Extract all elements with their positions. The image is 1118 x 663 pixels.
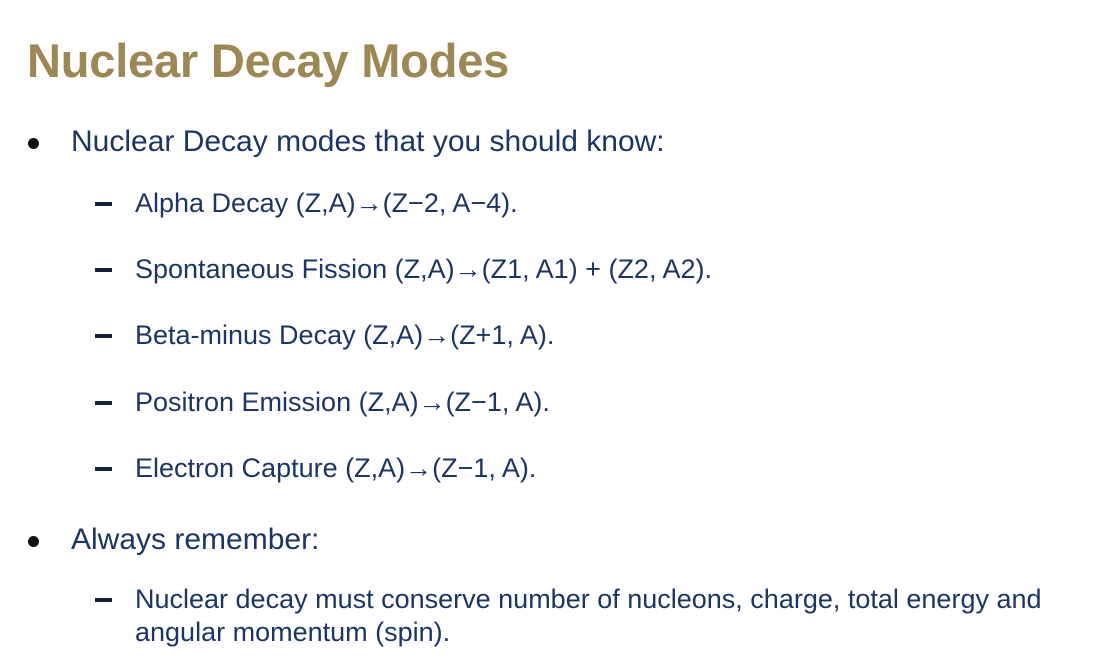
- sub-bullet-label-positron-emission: Positron Emission (Z,A)→(Z−1, A).: [135, 386, 1118, 418]
- sub-list-always-remember: Nuclear decay must conserve number of nu…: [0, 583, 1118, 648]
- sub-bullet-item-beta-minus-decay: Beta-minus Decay (Z,A)→(Z+1, A).: [0, 319, 1118, 351]
- sub-bullet-item-electron-capture: Electron Capture (Z,A)→(Z−1, A).: [0, 452, 1118, 484]
- dash-marker-icon: [95, 467, 112, 471]
- spacer: [0, 161, 1118, 187]
- sub-bullet-label-electron-capture: Electron Capture (Z,A)→(Z−1, A).: [135, 452, 1118, 484]
- bullet-label-decay-modes: Nuclear Decay modes that you should know…: [71, 124, 1118, 161]
- sub-bullet-item-positron-emission: Positron Emission (Z,A)→(Z−1, A).: [0, 386, 1118, 418]
- spacer: [0, 418, 1118, 452]
- sub-bullet-item-conservation-rule: Nuclear decay must conserve number of nu…: [0, 583, 1118, 648]
- bullet-dot-icon: [28, 536, 39, 547]
- bullet-item-decay-modes: Nuclear Decay modes that you should know…: [0, 124, 1118, 161]
- dash-marker-icon: [95, 202, 112, 206]
- bullet-item-always-remember: Always remember:: [0, 522, 1118, 559]
- bullet-dot-icon: [28, 138, 39, 149]
- page-title: Nuclear Decay Modes: [27, 33, 509, 88]
- slide-body: Nuclear Decay modes that you should know…: [0, 124, 1118, 648]
- spacer: [0, 352, 1118, 386]
- slide-canvas: Nuclear Decay Modes Nuclear Decay modes …: [0, 0, 1118, 663]
- spacer: [0, 485, 1118, 522]
- spacer: [0, 558, 1118, 583]
- sub-bullet-item-spontaneous-fission: Spontaneous Fission (Z,A)→(Z1, A1) + (Z2…: [0, 253, 1118, 285]
- sub-bullet-label-conservation-rule: Nuclear decay must conserve number of nu…: [135, 583, 1118, 648]
- dash-marker-icon: [95, 401, 112, 405]
- spacer: [0, 285, 1118, 319]
- bullet-label-always-remember: Always remember:: [71, 522, 1118, 559]
- dash-marker-icon: [95, 598, 112, 602]
- dash-marker-icon: [95, 334, 112, 338]
- dash-marker-icon: [95, 268, 112, 272]
- spacer: [0, 219, 1118, 253]
- sub-list-decay-modes: Alpha Decay (Z,A)→(Z−2, A−4). Spontaneou…: [0, 187, 1118, 485]
- sub-bullet-label-beta-minus-decay: Beta-minus Decay (Z,A)→(Z+1, A).: [135, 319, 1118, 351]
- sub-bullet-label-spontaneous-fission: Spontaneous Fission (Z,A)→(Z1, A1) + (Z2…: [135, 253, 1118, 285]
- sub-bullet-item-alpha-decay: Alpha Decay (Z,A)→(Z−2, A−4).: [0, 187, 1118, 219]
- sub-bullet-label-alpha-decay: Alpha Decay (Z,A)→(Z−2, A−4).: [135, 187, 1118, 219]
